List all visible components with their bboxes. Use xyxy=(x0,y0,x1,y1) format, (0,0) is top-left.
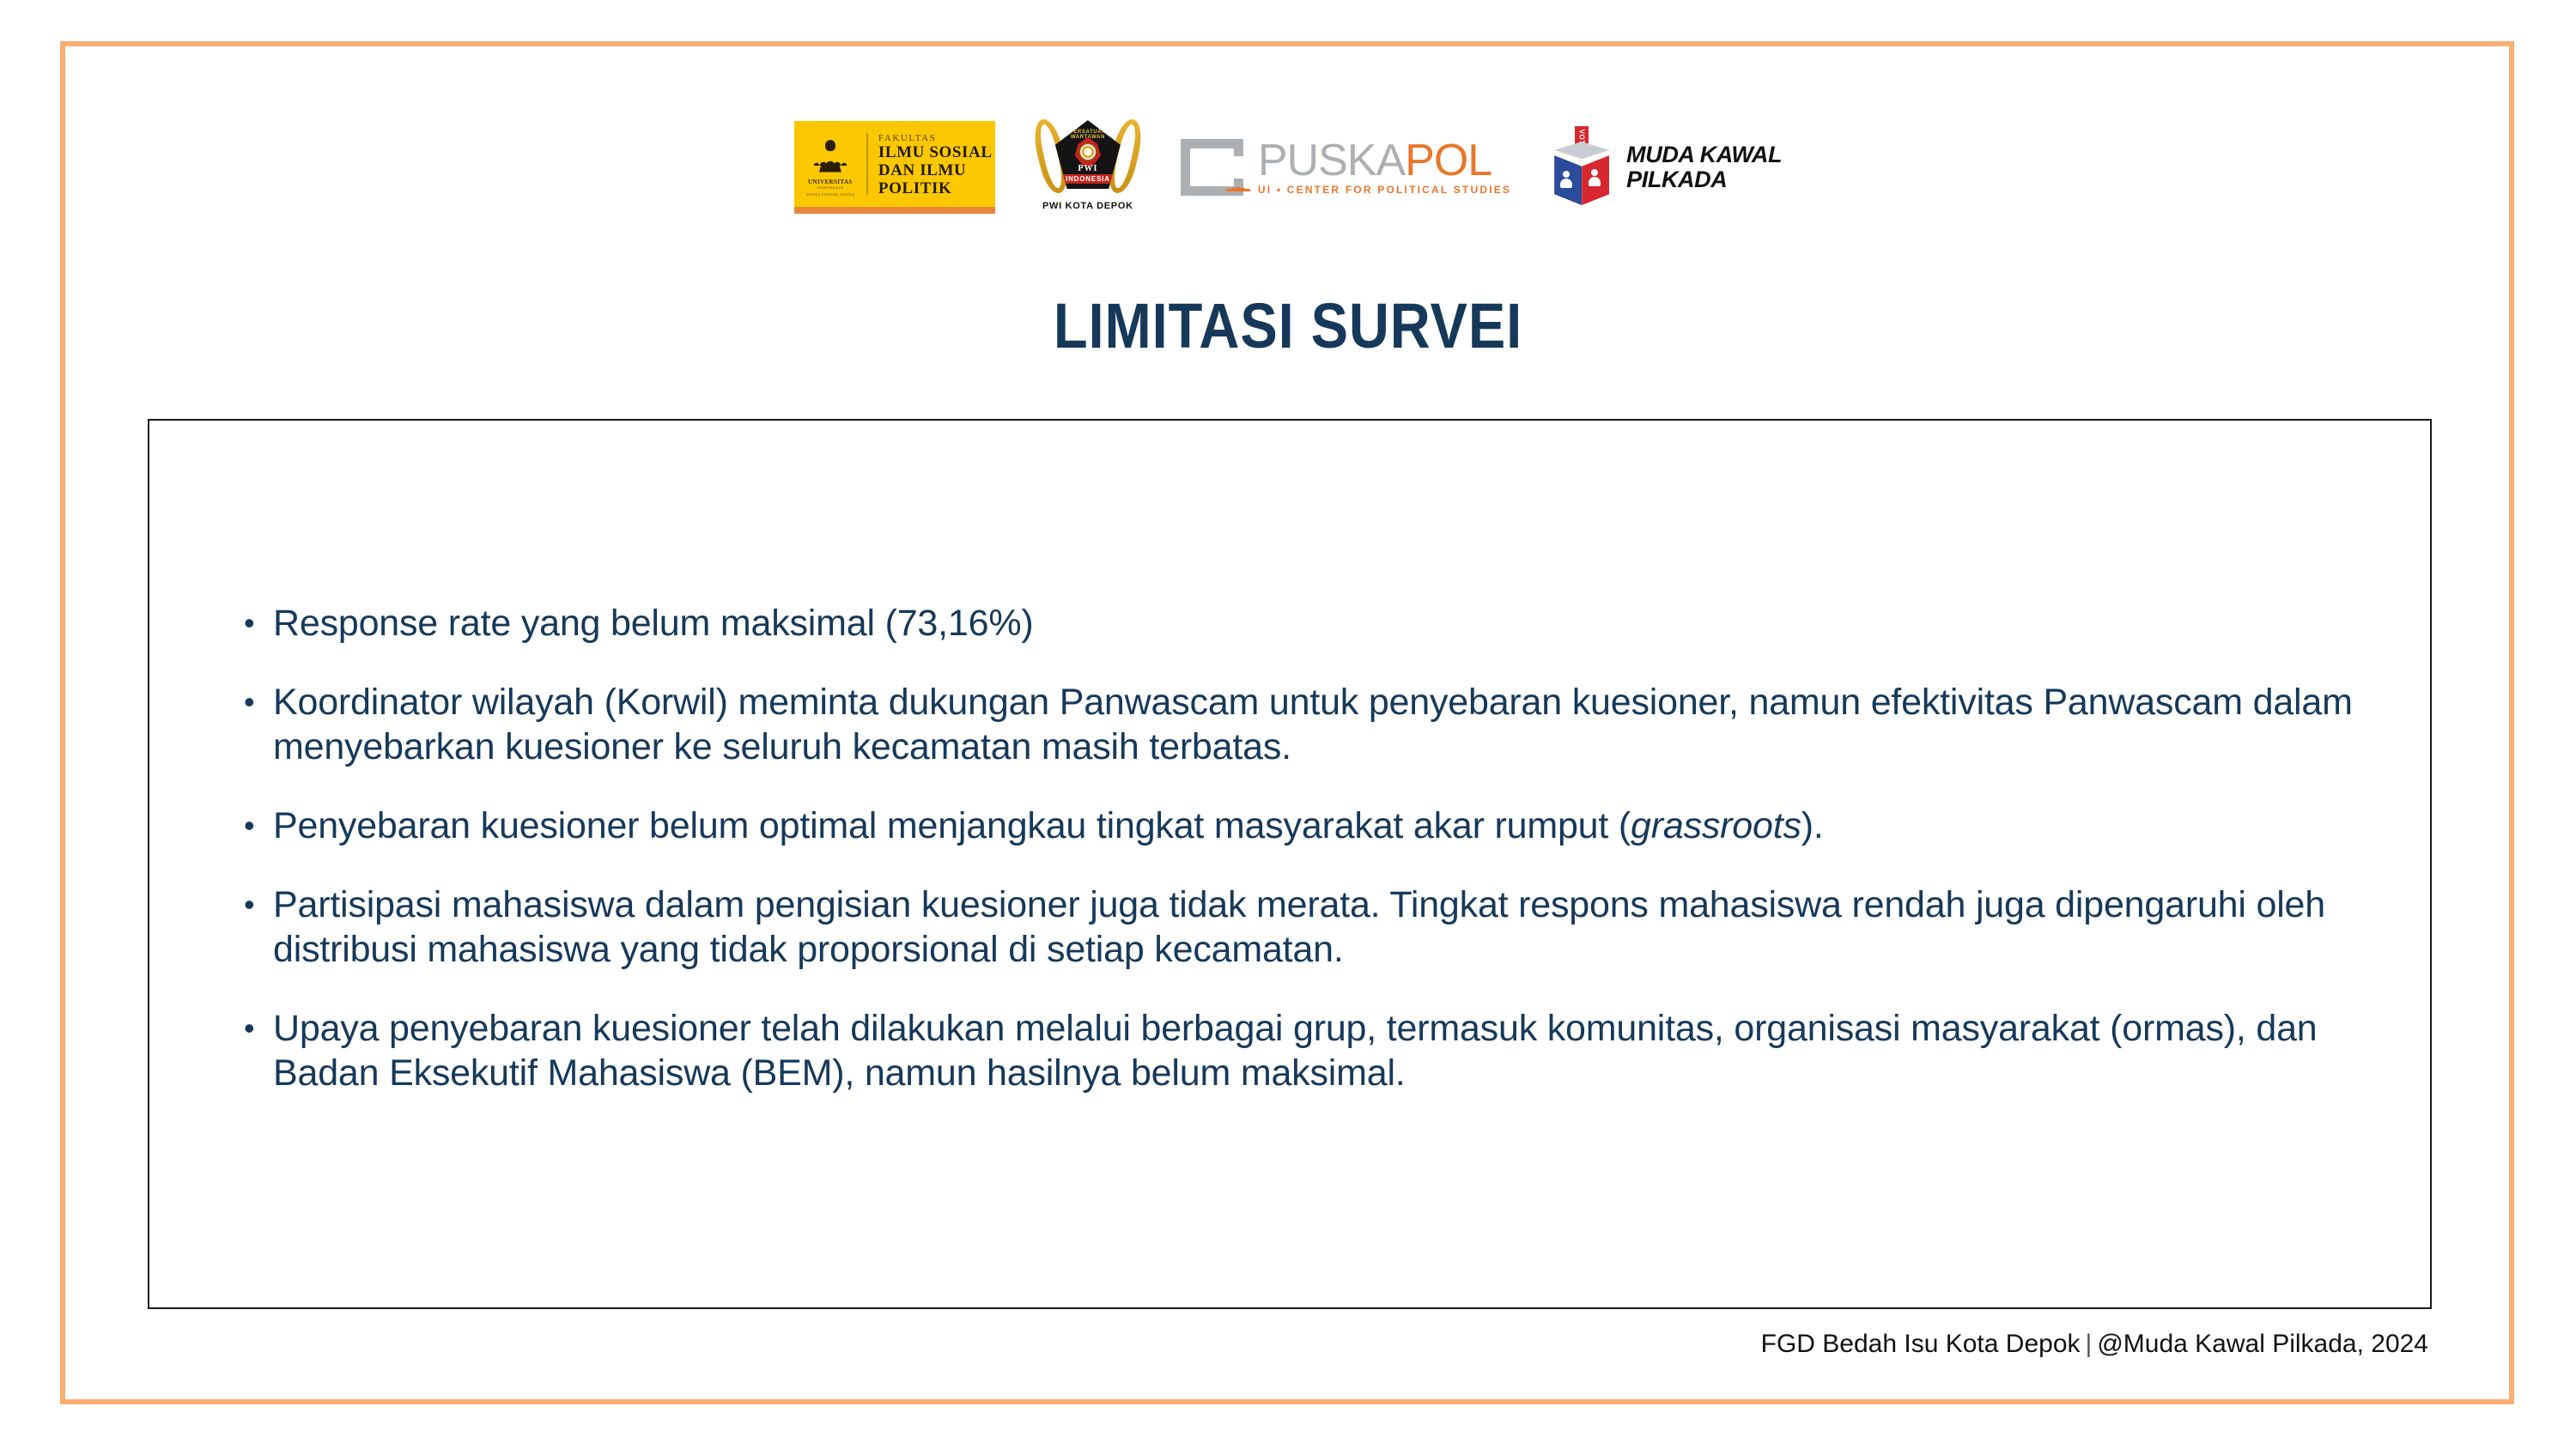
limitation-bullet-list: • Response rate yang belum maksimal (73,… xyxy=(244,601,2373,1095)
bullet-text: Upaya penyebaran kuesioner telah dilakuk… xyxy=(273,1006,2373,1095)
puskapol-word-a: PUSKA xyxy=(1258,136,1405,185)
footer-right: @Muda Kawal Pilkada, 2024 xyxy=(2097,1330,2428,1358)
makara-icon xyxy=(811,140,850,176)
puskapol-subtitle: UI • CENTER FOR POLITICAL STUDIES xyxy=(1258,184,1511,196)
pwi-wordmark: PWI xyxy=(1078,164,1097,173)
person-icon-left xyxy=(1560,171,1572,188)
fisip-line1: ILMU SOSIAL xyxy=(878,144,995,161)
ui-fisip-logo: UNIVERSITAS INDONESIA Veritas Probitas I… xyxy=(794,121,995,214)
fisip-wordmark: FAKULTAS ILMU SOSIAL DAN ILMU POLITIK xyxy=(868,121,995,214)
muda-kawal-pilkada-logo: VOTE MUDA KAWAL PILKADA xyxy=(1549,121,1782,214)
presentation-slide: UNIVERSITAS INDONESIA Veritas Probitas I… xyxy=(0,0,2576,1449)
logo-bar: UNIVERSITAS INDONESIA Veritas Probitas I… xyxy=(0,112,2576,223)
bullet-text: Response rate yang belum maksimal (73,16… xyxy=(273,601,2373,646)
ui-university-label: UNIVERSITAS INDONESIA Veritas Probitas I… xyxy=(806,179,855,199)
pwi-caption: PWI KOTA DEPOK xyxy=(1042,201,1133,211)
bullet-text-italic: grassroots xyxy=(1631,805,1801,846)
ui-university-tagline: Veritas Probitas Iustitia xyxy=(806,192,855,199)
puskapol-word-b: POL xyxy=(1405,136,1492,185)
list-item: • Koordinator wilayah (Korwil) meminta d… xyxy=(244,680,2373,769)
bullet-marker: • xyxy=(244,680,273,724)
footer-separator: | xyxy=(2081,1330,2098,1358)
ui-university-line1: UNIVERSITAS xyxy=(808,179,853,185)
list-item: • Penyebaran kuesioner belum optimal men… xyxy=(244,803,2373,848)
puskapol-bracket-icon xyxy=(1181,139,1234,196)
person-icon-right xyxy=(1589,169,1601,186)
puskapol-makara-icon xyxy=(1225,167,1251,191)
bullet-text: Penyebaran kuesioner belum optimal menja… xyxy=(273,803,2373,848)
list-item: • Partisipasi mahasiswa dalam pengisian … xyxy=(244,882,2373,972)
pwi-banner: INDONESIA xyxy=(1060,174,1115,184)
fisip-kicker: FAKULTAS xyxy=(878,133,995,143)
bullet-text-post: ). xyxy=(1801,805,1824,846)
bullet-marker: • xyxy=(244,1006,273,1051)
puskapol-logo: PUSKAPOL UI • CENTER FOR POLITICAL STUDI… xyxy=(1181,121,1511,214)
puskapol-wordmark: PUSKAPOL UI • CENTER FOR POLITICAL STUDI… xyxy=(1242,140,1511,196)
fisip-line3: POLITIK xyxy=(878,180,995,197)
list-item: • Upaya penyebaran kuesioner telah dilak… xyxy=(244,1006,2373,1095)
slide-footer: FGD Bedah Isu Kota Depok|@Muda Kawal Pil… xyxy=(1761,1329,2428,1360)
pwi-emblem-icon: PERSATUAN WARTAWAN PWI INDONESIA xyxy=(1037,113,1139,199)
footer-left: FGD Bedah Isu Kota Depok xyxy=(1761,1330,2081,1358)
mkp-line1: MUDA KAWAL xyxy=(1626,142,1782,167)
pwi-pentagon: PERSATUAN WARTAWAN PWI INDONESIA xyxy=(1055,120,1121,189)
ui-makara-emblem: UNIVERSITAS INDONESIA Veritas Probitas I… xyxy=(794,121,866,214)
bullet-marker: • xyxy=(244,601,273,646)
fisip-divider xyxy=(866,133,868,195)
pwi-gear-icon xyxy=(1079,143,1097,161)
bullet-text-pre: Penyebaran kuesioner belum optimal menja… xyxy=(273,805,1631,846)
fisip-orange-stripe xyxy=(794,207,995,214)
slide-title: LIMITASI SURVEI xyxy=(155,290,2421,362)
bullet-text: Partisipasi mahasiswa dalam pengisian ku… xyxy=(273,882,2373,972)
bullet-marker: • xyxy=(244,803,273,848)
content-box: • Response rate yang belum maksimal (73,… xyxy=(148,419,2432,1309)
bullet-marker: • xyxy=(244,882,273,927)
puskapol-word: PUSKAPOL xyxy=(1258,140,1511,181)
list-item: • Response rate yang belum maksimal (73,… xyxy=(244,601,2373,646)
pwi-logo: PERSATUAN WARTAWAN PWI INDONESIA PWI KOT… xyxy=(1033,113,1143,221)
mkp-line2: PILKADA xyxy=(1626,167,1782,192)
fisip-line2: DAN ILMU xyxy=(878,162,995,179)
bullet-text: Koordinator wilayah (Korwil) meminta duk… xyxy=(273,680,2373,769)
muda-kawal-pilkada-wordmark: MUDA KAWAL PILKADA xyxy=(1626,142,1782,192)
ballot-box-icon: VOTE xyxy=(1549,126,1614,209)
ui-university-line2: INDONESIA xyxy=(806,185,855,192)
